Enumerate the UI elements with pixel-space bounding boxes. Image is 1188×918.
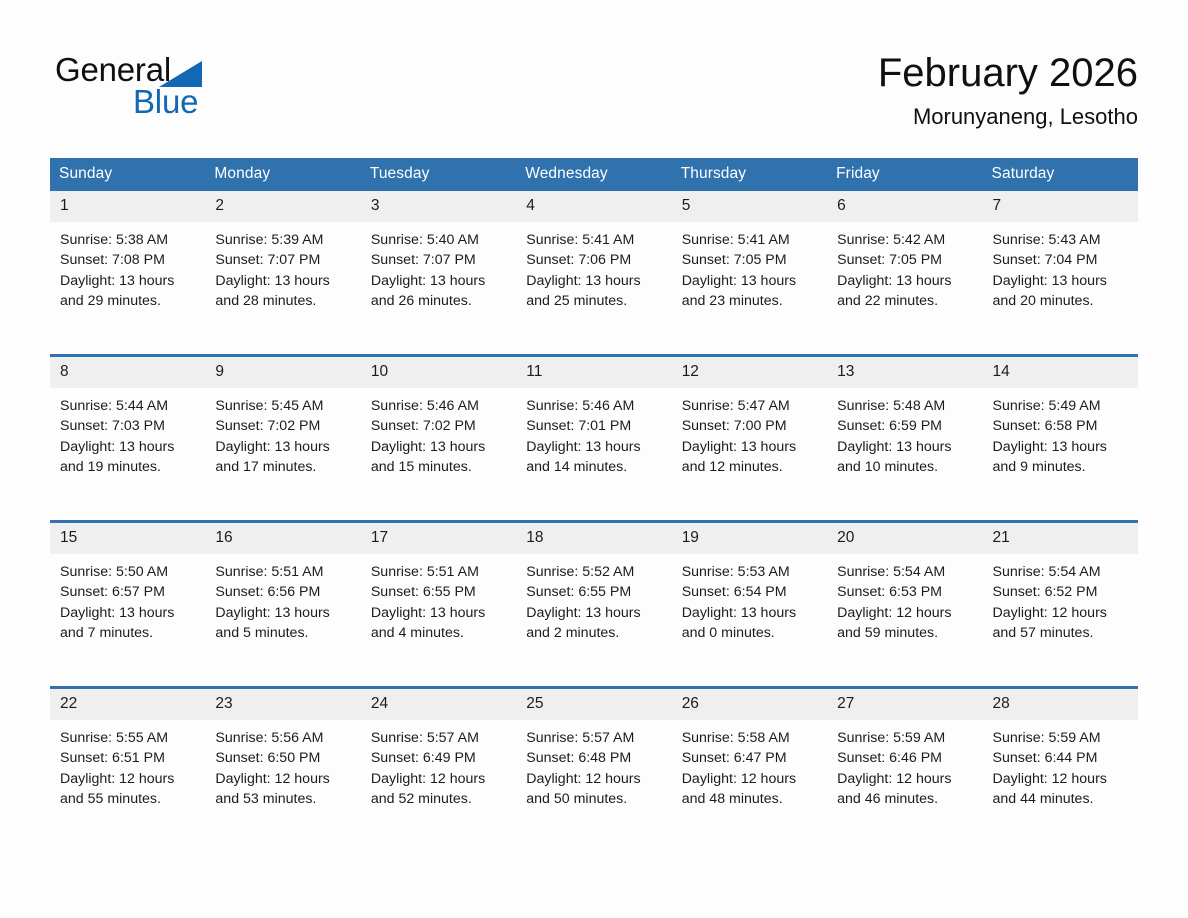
daylight-text-line2: and 7 minutes. [60,623,195,643]
day-details: Sunrise: 5:43 AM Sunset: 7:04 PM Dayligh… [983,222,1138,312]
day-cell[interactable]: 22 Sunrise: 5:55 AM Sunset: 6:51 PM Dayl… [50,688,205,853]
day-number: 2 [205,191,360,222]
day-cell[interactable]: 12 Sunrise: 5:47 AM Sunset: 7:00 PM Dayl… [672,356,827,522]
weekday-header-friday: Friday [827,158,982,191]
daylight-text-line2: and 25 minutes. [526,291,661,311]
sunrise-text: Sunrise: 5:57 AM [526,728,661,748]
sunrise-text: Sunrise: 5:58 AM [682,728,817,748]
daylight-text-line2: and 52 minutes. [371,789,506,809]
daylight-text-line1: Daylight: 13 hours [60,271,195,291]
day-details: Sunrise: 5:48 AM Sunset: 6:59 PM Dayligh… [827,388,982,478]
sunset-text: Sunset: 6:59 PM [837,416,972,436]
daylight-text-line1: Daylight: 13 hours [371,437,506,457]
day-details: Sunrise: 5:50 AM Sunset: 6:57 PM Dayligh… [50,554,205,644]
daylight-text-line2: and 9 minutes. [993,457,1128,477]
day-number: 9 [205,357,360,388]
page-subtitle-location: Morunyaneng, Lesotho [878,102,1138,132]
day-details: Sunrise: 5:52 AM Sunset: 6:55 PM Dayligh… [516,554,671,644]
day-cell[interactable]: 15 Sunrise: 5:50 AM Sunset: 6:57 PM Dayl… [50,522,205,688]
day-cell[interactable]: 17 Sunrise: 5:51 AM Sunset: 6:55 PM Dayl… [361,522,516,688]
sunrise-text: Sunrise: 5:51 AM [215,562,350,582]
daylight-text-line2: and 23 minutes. [682,291,817,311]
sunset-text: Sunset: 7:02 PM [215,416,350,436]
day-details: Sunrise: 5:46 AM Sunset: 7:01 PM Dayligh… [516,388,671,478]
day-details: Sunrise: 5:57 AM Sunset: 6:49 PM Dayligh… [361,720,516,810]
daylight-text-line2: and 28 minutes. [215,291,350,311]
daylight-text-line1: Daylight: 13 hours [837,437,972,457]
day-number: 22 [50,689,205,720]
daylight-text-line1: Daylight: 13 hours [682,271,817,291]
day-cell[interactable]: 11 Sunrise: 5:46 AM Sunset: 7:01 PM Dayl… [516,356,671,522]
sunrise-text: Sunrise: 5:59 AM [993,728,1128,748]
sunset-text: Sunset: 6:48 PM [526,748,661,768]
sunrise-text: Sunrise: 5:51 AM [371,562,506,582]
day-cell[interactable]: 14 Sunrise: 5:49 AM Sunset: 6:58 PM Dayl… [983,356,1138,522]
day-details: Sunrise: 5:54 AM Sunset: 6:52 PM Dayligh… [983,554,1138,644]
day-number: 19 [672,523,827,554]
daylight-text-line1: Daylight: 13 hours [526,271,661,291]
sunrise-text: Sunrise: 5:39 AM [215,230,350,250]
sunrise-text: Sunrise: 5:41 AM [682,230,817,250]
day-number: 15 [50,523,205,554]
daylight-text-line1: Daylight: 13 hours [837,271,972,291]
day-cell[interactable]: 2 Sunrise: 5:39 AM Sunset: 7:07 PM Dayli… [205,191,360,356]
day-details: Sunrise: 5:51 AM Sunset: 6:55 PM Dayligh… [361,554,516,644]
daylight-text-line2: and 44 minutes. [993,789,1128,809]
daylight-text-line1: Daylight: 13 hours [993,271,1128,291]
sunset-text: Sunset: 6:56 PM [215,582,350,602]
day-cell[interactable]: 6 Sunrise: 5:42 AM Sunset: 7:05 PM Dayli… [827,191,982,356]
day-details: Sunrise: 5:42 AM Sunset: 7:05 PM Dayligh… [827,222,982,312]
sunset-text: Sunset: 7:02 PM [371,416,506,436]
logo-text-blue: Blue [133,84,198,120]
daylight-text-line2: and 2 minutes. [526,623,661,643]
sunset-text: Sunset: 6:55 PM [371,582,506,602]
weekday-header-sunday: Sunday [50,158,205,191]
day-cell[interactable]: 16 Sunrise: 5:51 AM Sunset: 6:56 PM Dayl… [205,522,360,688]
day-details: Sunrise: 5:54 AM Sunset: 6:53 PM Dayligh… [827,554,982,644]
daylight-text-line2: and 14 minutes. [526,457,661,477]
day-details: Sunrise: 5:49 AM Sunset: 6:58 PM Dayligh… [983,388,1138,478]
daylight-text-line1: Daylight: 13 hours [526,437,661,457]
day-details: Sunrise: 5:41 AM Sunset: 7:06 PM Dayligh… [516,222,671,312]
day-cell[interactable]: 3 Sunrise: 5:40 AM Sunset: 7:07 PM Dayli… [361,191,516,356]
sunset-text: Sunset: 6:47 PM [682,748,817,768]
daylight-text-line1: Daylight: 13 hours [993,437,1128,457]
day-cell[interactable]: 28 Sunrise: 5:59 AM Sunset: 6:44 PM Dayl… [983,688,1138,853]
day-number: 8 [50,357,205,388]
daylight-text-line1: Daylight: 13 hours [215,271,350,291]
day-number: 18 [516,523,671,554]
day-number: 10 [361,357,516,388]
sunset-text: Sunset: 7:03 PM [60,416,195,436]
sunrise-text: Sunrise: 5:43 AM [993,230,1128,250]
daylight-text-line2: and 20 minutes. [993,291,1128,311]
sunrise-sunset-calendar-table: Sunday Monday Tuesday Wednesday Thursday… [50,158,1138,852]
sunrise-text: Sunrise: 5:44 AM [60,396,195,416]
day-cell[interactable]: 19 Sunrise: 5:53 AM Sunset: 6:54 PM Dayl… [672,522,827,688]
daylight-text-line2: and 4 minutes. [371,623,506,643]
day-details: Sunrise: 5:45 AM Sunset: 7:02 PM Dayligh… [205,388,360,478]
daylight-text-line2: and 53 minutes. [215,789,350,809]
day-number: 24 [361,689,516,720]
daylight-text-line1: Daylight: 13 hours [60,603,195,623]
sunset-text: Sunset: 7:07 PM [215,250,350,270]
day-details: Sunrise: 5:56 AM Sunset: 6:50 PM Dayligh… [205,720,360,810]
sunrise-text: Sunrise: 5:50 AM [60,562,195,582]
day-details: Sunrise: 5:47 AM Sunset: 7:00 PM Dayligh… [672,388,827,478]
sunrise-text: Sunrise: 5:55 AM [60,728,195,748]
sunrise-text: Sunrise: 5:54 AM [993,562,1128,582]
calendar-body: 1 Sunrise: 5:38 AM Sunset: 7:08 PM Dayli… [50,191,1138,852]
daylight-text-line1: Daylight: 13 hours [215,437,350,457]
sunset-text: Sunset: 7:04 PM [993,250,1128,270]
daylight-text-line1: Daylight: 12 hours [993,603,1128,623]
weekday-header-thursday: Thursday [672,158,827,191]
sunset-text: Sunset: 7:06 PM [526,250,661,270]
day-number: 1 [50,191,205,222]
sunrise-text: Sunrise: 5:46 AM [526,396,661,416]
daylight-text-line2: and 46 minutes. [837,789,972,809]
day-details: Sunrise: 5:55 AM Sunset: 6:51 PM Dayligh… [50,720,205,810]
sunrise-text: Sunrise: 5:40 AM [371,230,506,250]
day-details: Sunrise: 5:53 AM Sunset: 6:54 PM Dayligh… [672,554,827,644]
weekday-header-monday: Monday [205,158,360,191]
daylight-text-line2: and 12 minutes. [682,457,817,477]
sunset-text: Sunset: 6:54 PM [682,582,817,602]
day-cell[interactable]: 27 Sunrise: 5:59 AM Sunset: 6:46 PM Dayl… [827,688,982,853]
day-cell[interactable]: 23 Sunrise: 5:56 AM Sunset: 6:50 PM Dayl… [205,688,360,853]
day-number: 14 [983,357,1138,388]
day-details: Sunrise: 5:41 AM Sunset: 7:05 PM Dayligh… [672,222,827,312]
day-details: Sunrise: 5:59 AM Sunset: 6:46 PM Dayligh… [827,720,982,810]
daylight-text-line1: Daylight: 12 hours [682,769,817,789]
sunrise-text: Sunrise: 5:46 AM [371,396,506,416]
weekday-header-saturday: Saturday [983,158,1138,191]
day-details: Sunrise: 5:38 AM Sunset: 7:08 PM Dayligh… [50,222,205,312]
sunset-text: Sunset: 6:51 PM [60,748,195,768]
daylight-text-line2: and 29 minutes. [60,291,195,311]
sunset-text: Sunset: 6:52 PM [993,582,1128,602]
day-cell[interactable]: 25 Sunrise: 5:57 AM Sunset: 6:48 PM Dayl… [516,688,671,853]
day-number: 23 [205,689,360,720]
sunset-text: Sunset: 7:08 PM [60,250,195,270]
sunset-text: Sunset: 6:46 PM [837,748,972,768]
day-number: 16 [205,523,360,554]
daylight-text-line1: Daylight: 12 hours [60,769,195,789]
daylight-text-line1: Daylight: 13 hours [526,603,661,623]
day-details: Sunrise: 5:46 AM Sunset: 7:02 PM Dayligh… [361,388,516,478]
daylight-text-line1: Daylight: 12 hours [837,769,972,789]
sunrise-text: Sunrise: 5:47 AM [682,396,817,416]
daylight-text-line2: and 0 minutes. [682,623,817,643]
day-details: Sunrise: 5:39 AM Sunset: 7:07 PM Dayligh… [205,222,360,312]
daylight-text-line2: and 59 minutes. [837,623,972,643]
day-cell[interactable]: 24 Sunrise: 5:57 AM Sunset: 6:49 PM Dayl… [361,688,516,853]
sunset-text: Sunset: 7:01 PM [526,416,661,436]
weekday-header-tuesday: Tuesday [361,158,516,191]
daylight-text-line2: and 57 minutes. [993,623,1128,643]
daylight-text-line1: Daylight: 12 hours [371,769,506,789]
daylight-text-line2: and 10 minutes. [837,457,972,477]
daylight-text-line2: and 5 minutes. [215,623,350,643]
day-number: 28 [983,689,1138,720]
day-cell[interactable]: 21 Sunrise: 5:54 AM Sunset: 6:52 PM Dayl… [983,522,1138,688]
sunset-text: Sunset: 6:50 PM [215,748,350,768]
day-number: 20 [827,523,982,554]
daylight-text-line2: and 26 minutes. [371,291,506,311]
title-block: February 2026 Morunyaneng, Lesotho [878,48,1138,132]
sunrise-text: Sunrise: 5:56 AM [215,728,350,748]
sunrise-text: Sunrise: 5:48 AM [837,396,972,416]
masthead: General Blue February 2026 Morunyaneng, … [50,48,1138,140]
page-title: February 2026 [878,48,1138,98]
day-cell[interactable]: 10 Sunrise: 5:46 AM Sunset: 7:02 PM Dayl… [361,356,516,522]
calendar-week-row: 1 Sunrise: 5:38 AM Sunset: 7:08 PM Dayli… [50,191,1138,356]
day-details: Sunrise: 5:40 AM Sunset: 7:07 PM Dayligh… [361,222,516,312]
calendar-week-row: 8 Sunrise: 5:44 AM Sunset: 7:03 PM Dayli… [50,356,1138,522]
day-number: 17 [361,523,516,554]
sunset-text: Sunset: 7:00 PM [682,416,817,436]
day-cell[interactable]: 8 Sunrise: 5:44 AM Sunset: 7:03 PM Dayli… [50,356,205,522]
day-number: 7 [983,191,1138,222]
day-details: Sunrise: 5:58 AM Sunset: 6:47 PM Dayligh… [672,720,827,810]
sunset-text: Sunset: 6:58 PM [993,416,1128,436]
daylight-text-line2: and 19 minutes. [60,457,195,477]
day-cell[interactable]: 4 Sunrise: 5:41 AM Sunset: 7:06 PM Dayli… [516,191,671,356]
day-number: 27 [827,689,982,720]
sunset-text: Sunset: 6:44 PM [993,748,1128,768]
day-details: Sunrise: 5:44 AM Sunset: 7:03 PM Dayligh… [50,388,205,478]
daylight-text-line1: Daylight: 13 hours [60,437,195,457]
day-details: Sunrise: 5:51 AM Sunset: 6:56 PM Dayligh… [205,554,360,644]
daylight-text-line2: and 17 minutes. [215,457,350,477]
daylight-text-line2: and 48 minutes. [682,789,817,809]
daylight-text-line1: Daylight: 12 hours [526,769,661,789]
day-number: 6 [827,191,982,222]
day-number: 13 [827,357,982,388]
daylight-text-line1: Daylight: 13 hours [215,603,350,623]
day-details: Sunrise: 5:57 AM Sunset: 6:48 PM Dayligh… [516,720,671,810]
day-cell[interactable]: 13 Sunrise: 5:48 AM Sunset: 6:59 PM Dayl… [827,356,982,522]
day-number: 25 [516,689,671,720]
day-cell[interactable]: 1 Sunrise: 5:38 AM Sunset: 7:08 PM Dayli… [50,191,205,356]
weekday-header-row: Sunday Monday Tuesday Wednesday Thursday… [50,158,1138,191]
day-number: 5 [672,191,827,222]
day-cell[interactable]: 5 Sunrise: 5:41 AM Sunset: 7:05 PM Dayli… [672,191,827,356]
sunrise-text: Sunrise: 5:45 AM [215,396,350,416]
daylight-text-line1: Daylight: 13 hours [682,603,817,623]
daylight-text-line1: Daylight: 13 hours [371,603,506,623]
sunrise-text: Sunrise: 5:52 AM [526,562,661,582]
day-number: 4 [516,191,671,222]
day-number: 26 [672,689,827,720]
day-cell[interactable]: 26 Sunrise: 5:58 AM Sunset: 6:47 PM Dayl… [672,688,827,853]
calendar-page: General Blue February 2026 Morunyaneng, … [0,0,1188,918]
sunset-text: Sunset: 6:53 PM [837,582,972,602]
day-number: 3 [361,191,516,222]
sunrise-text: Sunrise: 5:49 AM [993,396,1128,416]
calendar-week-row: 15 Sunrise: 5:50 AM Sunset: 6:57 PM Dayl… [50,522,1138,688]
sunset-text: Sunset: 6:57 PM [60,582,195,602]
day-number: 21 [983,523,1138,554]
day-cell[interactable]: 20 Sunrise: 5:54 AM Sunset: 6:53 PM Dayl… [827,522,982,688]
sunset-text: Sunset: 7:05 PM [837,250,972,270]
daylight-text-line2: and 15 minutes. [371,457,506,477]
sunrise-text: Sunrise: 5:41 AM [526,230,661,250]
sunrise-text: Sunrise: 5:38 AM [60,230,195,250]
weekday-header-wednesday: Wednesday [516,158,671,191]
day-details: Sunrise: 5:59 AM Sunset: 6:44 PM Dayligh… [983,720,1138,810]
sunrise-text: Sunrise: 5:54 AM [837,562,972,582]
day-number: 12 [672,357,827,388]
sunrise-text: Sunrise: 5:59 AM [837,728,972,748]
daylight-text-line2: and 22 minutes. [837,291,972,311]
sunset-text: Sunset: 6:49 PM [371,748,506,768]
sunrise-text: Sunrise: 5:57 AM [371,728,506,748]
generalblue-logo[interactable]: General Blue [55,52,295,128]
day-cell[interactable]: 9 Sunrise: 5:45 AM Sunset: 7:02 PM Dayli… [205,356,360,522]
sunset-text: Sunset: 7:07 PM [371,250,506,270]
daylight-text-line1: Daylight: 12 hours [215,769,350,789]
day-cell[interactable]: 7 Sunrise: 5:43 AM Sunset: 7:04 PM Dayli… [983,191,1138,356]
sunset-text: Sunset: 6:55 PM [526,582,661,602]
calendar-header: Sunday Monday Tuesday Wednesday Thursday… [50,158,1138,191]
sunset-text: Sunset: 7:05 PM [682,250,817,270]
daylight-text-line1: Daylight: 12 hours [837,603,972,623]
daylight-text-line2: and 55 minutes. [60,789,195,809]
day-number: 11 [516,357,671,388]
daylight-text-line1: Daylight: 13 hours [371,271,506,291]
daylight-text-line2: and 50 minutes. [526,789,661,809]
daylight-text-line1: Daylight: 13 hours [682,437,817,457]
sunrise-text: Sunrise: 5:42 AM [837,230,972,250]
calendar-week-row: 22 Sunrise: 5:55 AM Sunset: 6:51 PM Dayl… [50,688,1138,853]
sunrise-text: Sunrise: 5:53 AM [682,562,817,582]
daylight-text-line1: Daylight: 12 hours [993,769,1128,789]
day-cell[interactable]: 18 Sunrise: 5:52 AM Sunset: 6:55 PM Dayl… [516,522,671,688]
